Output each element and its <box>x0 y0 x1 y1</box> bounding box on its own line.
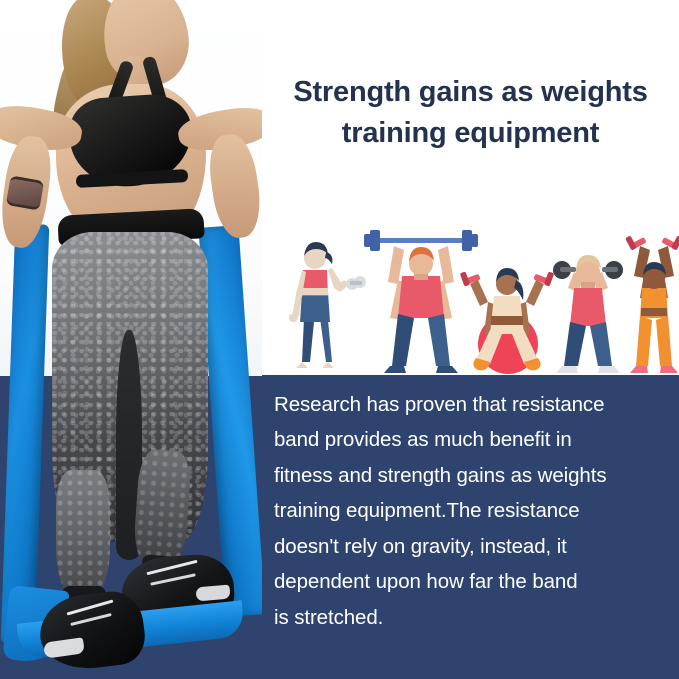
body-line-3: fitness and strength gains as weights <box>274 458 665 493</box>
body-line-4: training equipment.The resistance <box>274 493 665 528</box>
page-title: Strength gains as weights training equip… <box>262 72 679 154</box>
body-line-1: Research has proven that resistance <box>274 387 665 422</box>
product-marketing-image: Strength gains as weights training equip… <box>0 0 679 679</box>
model-figure <box>0 0 262 679</box>
product-photo <box>0 0 262 679</box>
smartwatch <box>6 175 45 210</box>
exercise-illustration-strip <box>262 222 679 375</box>
description-panel: Research has proven that resistance band… <box>262 375 679 679</box>
figure-man-shoulder-press <box>553 255 623 373</box>
forearm-right <box>205 131 262 240</box>
figure-woman-arms-raised <box>625 235 679 373</box>
resistance-band-left-strand <box>1 224 50 645</box>
description-text: Research has proven that resistance band… <box>274 387 665 635</box>
body-line-7: is stretched. <box>274 600 665 635</box>
title-line-2: training equipment <box>272 113 669 154</box>
body-line-5: doesn't rely on gravity, instead, it <box>274 529 665 564</box>
body-line-6: dependent upon how far the band <box>274 564 665 599</box>
body-line-2: band provides as much benefit in <box>274 422 665 457</box>
shin-left <box>56 470 110 600</box>
figure-man-barbell-overhead <box>364 230 478 373</box>
figure-woman-exercise-ball <box>460 268 554 374</box>
exercise-figures-svg <box>262 222 679 375</box>
figure-woman-dumbbell-curl <box>289 242 366 368</box>
title-line-1: Strength gains as weights <box>272 72 669 113</box>
